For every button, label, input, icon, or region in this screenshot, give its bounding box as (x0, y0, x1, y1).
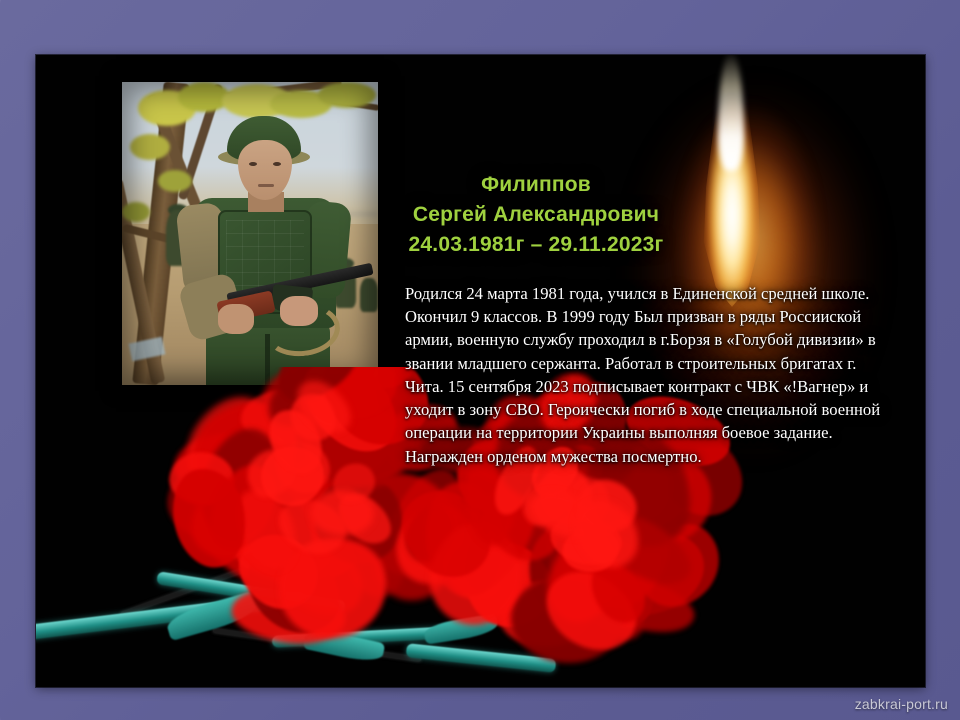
soldier-eye (249, 162, 257, 166)
carnation-petal (189, 418, 294, 548)
soldier-eye (273, 162, 281, 166)
carnation-petal (229, 583, 348, 649)
memorial-surname: Филиппов (366, 170, 706, 200)
carnation-petal (420, 515, 531, 635)
carnation-petal (226, 509, 336, 590)
carnation-petal-highlight (524, 483, 605, 546)
memorial-photo-panel: Филиппов Сергей Александрович 24.03.1981… (36, 55, 925, 687)
carnation-petal (496, 578, 596, 650)
carnation-petal (509, 574, 627, 666)
carnation-petal (227, 473, 326, 589)
memorial-dates: 24.03.1981г – 29.11.2023г (366, 230, 706, 260)
memorial-title-block: Филиппов Сергей Александрович 24.03.1981… (366, 170, 706, 259)
carnation-petal (204, 451, 326, 552)
carnation-petal-highlight (326, 456, 382, 509)
carnation-petal (549, 543, 656, 654)
carnation-petal-highlight (259, 400, 332, 482)
flower-leaf (303, 627, 386, 665)
carnation-petal (346, 519, 408, 599)
carnation-petal (162, 464, 242, 542)
flower-thin-stem (213, 628, 422, 661)
carnation-petal (468, 469, 576, 575)
carnation-petal (171, 382, 289, 508)
carnation-petal (577, 518, 713, 629)
carnation-petal (532, 557, 649, 666)
carnation-petal (189, 444, 269, 523)
carnation-petal (380, 490, 491, 600)
soldier-portrait-photo (122, 82, 378, 385)
carnation-petal (398, 499, 460, 569)
tree-foliage (130, 134, 170, 160)
carnation-petal (259, 444, 355, 552)
carnation-petal-highlight (534, 460, 597, 529)
memorial-given-names: Сергей Александрович (366, 200, 706, 230)
carnation-petal (334, 454, 480, 595)
carnation-petal (174, 432, 282, 500)
carnation-petal (250, 511, 378, 631)
flower-leaf (423, 613, 499, 644)
carnation-petal (548, 491, 630, 580)
carnation-petal (451, 528, 568, 643)
carnation-petal (237, 447, 391, 602)
carnation-petal-highlight (267, 433, 339, 502)
carnation-petal (165, 461, 256, 574)
carnation-petal (585, 561, 664, 639)
tree-foliage (122, 202, 150, 222)
carnation-petal (226, 480, 308, 579)
carnation-petal (240, 387, 346, 449)
memorial-slide: Филиппов Сергей Александрович 24.03.1981… (0, 0, 960, 720)
carnation-petal (536, 521, 634, 633)
carnation-petal (228, 505, 319, 583)
flower-leaf (164, 591, 260, 641)
flower-thin-stem (120, 561, 262, 616)
flower-stem (156, 571, 346, 614)
carnation-petal (300, 461, 419, 580)
soldier-mouth (258, 184, 274, 187)
tree-foliage (158, 170, 192, 192)
carnation-petal (420, 478, 507, 601)
carnation-petal (197, 454, 289, 560)
flower-stem (272, 626, 452, 647)
carnation-petal (188, 488, 268, 561)
carnation-petal-highlight (283, 386, 345, 449)
soldier-right-hand (280, 296, 318, 326)
carnation-petal (295, 390, 406, 493)
carnation-petal (378, 458, 476, 570)
carnation-petal (167, 450, 236, 508)
carnation-petal-highlight (310, 489, 375, 537)
carnation-petal (545, 482, 608, 587)
carnation-petal (268, 525, 398, 649)
carnation-petal-highlight (238, 439, 306, 507)
flower-stem (406, 643, 557, 673)
carnation-petal-highlight (329, 484, 400, 553)
carnation-petal-highlight (546, 509, 627, 571)
carnation-petal (364, 517, 462, 612)
carnation-petal (572, 560, 701, 643)
carnation-petal (184, 458, 257, 536)
carnation-petal (229, 524, 357, 652)
tree-foliage (318, 82, 376, 108)
carnation-petal-highlight (562, 488, 651, 580)
carnation-petal (198, 505, 316, 600)
memorial-biography: Родился 24 марта 1981 года, учился в Еди… (405, 282, 885, 468)
carnation-petal-highlight (514, 469, 578, 534)
carnation-petal (591, 519, 673, 597)
flower-stem (36, 591, 306, 640)
carnation-petal-highlight (560, 525, 621, 575)
soldier-left-hand (218, 304, 254, 334)
carnation-petal (290, 385, 366, 478)
carnation-petal-highlight (258, 443, 327, 509)
carnation-petal (385, 473, 508, 594)
carnation-petal (236, 460, 340, 550)
carnation-petal (224, 423, 300, 502)
carnation-petal-highlight (561, 474, 614, 530)
carnation-petal-highlight (271, 490, 354, 563)
carnation-petal (449, 478, 550, 602)
carnation-petal (570, 494, 682, 621)
carnation-petal (517, 512, 630, 636)
carnation-petal (225, 519, 331, 622)
site-watermark: zabkrai-port.ru (855, 696, 948, 712)
carnation-petal (622, 508, 737, 624)
carnation-petal (590, 502, 702, 599)
carnation-petal (176, 383, 315, 517)
background-soldier (360, 278, 378, 312)
carnation-petal (580, 552, 655, 632)
carnation-petal (390, 494, 481, 556)
carnation-petal (435, 523, 517, 608)
